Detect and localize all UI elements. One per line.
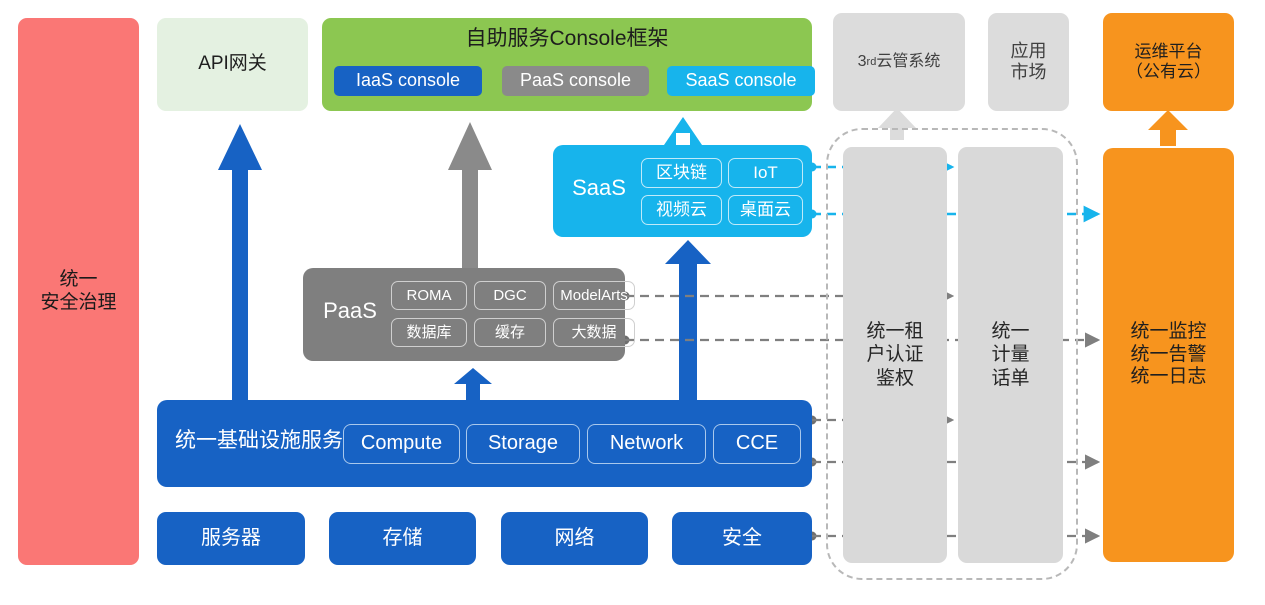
hardware-server-box[interactable]: 服务器	[157, 512, 305, 565]
arrow-infra-to-paas	[454, 368, 492, 402]
third-party-prefix: 3	[858, 53, 867, 72]
paas-layer-label: PaaS	[311, 298, 389, 324]
hardware-storage-box[interactable]: 存储	[329, 512, 476, 565]
saas-service-desktop-cloud[interactable]: 桌面云	[728, 195, 803, 225]
arrow-paas-to-console	[448, 122, 492, 268]
third-party-main: 云管系统	[876, 53, 940, 72]
paas-service-cache[interactable]: 缓存	[474, 318, 546, 347]
self-service-console-frame[interactable]: 自助服务Console框架 IaaS console PaaS console …	[322, 18, 812, 111]
paas-service-dgc[interactable]: DGC	[474, 281, 546, 310]
paas-service-bigdata[interactable]: 大数据	[553, 318, 635, 347]
paas-layer[interactable]: PaaS ROMA DGC ModelArts 数据库 缓存 大数据	[303, 268, 625, 361]
arrow-infra-to-saas	[665, 240, 711, 402]
infra-service-compute[interactable]: Compute	[343, 424, 460, 464]
arrow-saas-to-console	[664, 117, 702, 145]
infra-service-cce[interactable]: CCE	[713, 424, 801, 464]
iaas-console-chip[interactable]: IaaS console	[334, 66, 482, 96]
app-market-box[interactable]: 应用 市场	[988, 13, 1069, 111]
infra-service-storage[interactable]: Storage	[466, 424, 580, 464]
arrow-middle-to-ops-top	[1148, 110, 1188, 146]
saas-layer-label: SaaS	[563, 175, 635, 201]
unified-metering-billing-column[interactable]: 统一 计量 话单	[958, 147, 1063, 563]
paas-service-roma[interactable]: ROMA	[391, 281, 467, 310]
unified-monitoring-alarm-log-column[interactable]: 统一监控 统一告警 统一日志	[1103, 148, 1234, 562]
third-party-superscript: rd	[867, 56, 877, 69]
arrow-infra-to-api-gateway	[218, 124, 262, 402]
api-gateway-box[interactable]: API网关	[157, 18, 308, 111]
paas-service-database[interactable]: 数据库	[391, 318, 467, 347]
unified-tenant-auth-column[interactable]: 统一租 户认证 鉴权	[843, 147, 947, 563]
hardware-network-box[interactable]: 网络	[501, 512, 648, 565]
paas-service-modelarts[interactable]: ModelArts	[553, 281, 635, 310]
saas-console-chip[interactable]: SaaS console	[667, 66, 815, 96]
infrastructure-label: 统一基础设施服务	[175, 429, 343, 454]
saas-service-blockchain[interactable]: 区块链	[641, 158, 722, 188]
third-party-cloud-mgmt-box[interactable]: 3rd云管系统	[833, 13, 965, 111]
hardware-security-box[interactable]: 安全	[672, 512, 812, 565]
console-frame-title: 自助服务Console框架	[322, 27, 812, 52]
architecture-diagram: 统一 安全治理 API网关 自助服务Console框架 IaaS console…	[0, 0, 1265, 605]
saas-service-video-cloud[interactable]: 视频云	[641, 195, 722, 225]
paas-console-chip[interactable]: PaaS console	[502, 66, 649, 96]
infra-service-network[interactable]: Network	[587, 424, 706, 464]
saas-service-iot[interactable]: IoT	[728, 158, 803, 188]
unified-infrastructure-bar[interactable]: 统一基础设施服务 Compute Storage Network CCE	[157, 400, 812, 487]
security-governance-column[interactable]: 统一 安全治理	[18, 18, 139, 565]
ops-platform-public-cloud-box[interactable]: 运维平台 （公有云）	[1103, 13, 1234, 111]
saas-layer[interactable]: SaaS 区块链 IoT 视频云 桌面云	[553, 145, 812, 237]
